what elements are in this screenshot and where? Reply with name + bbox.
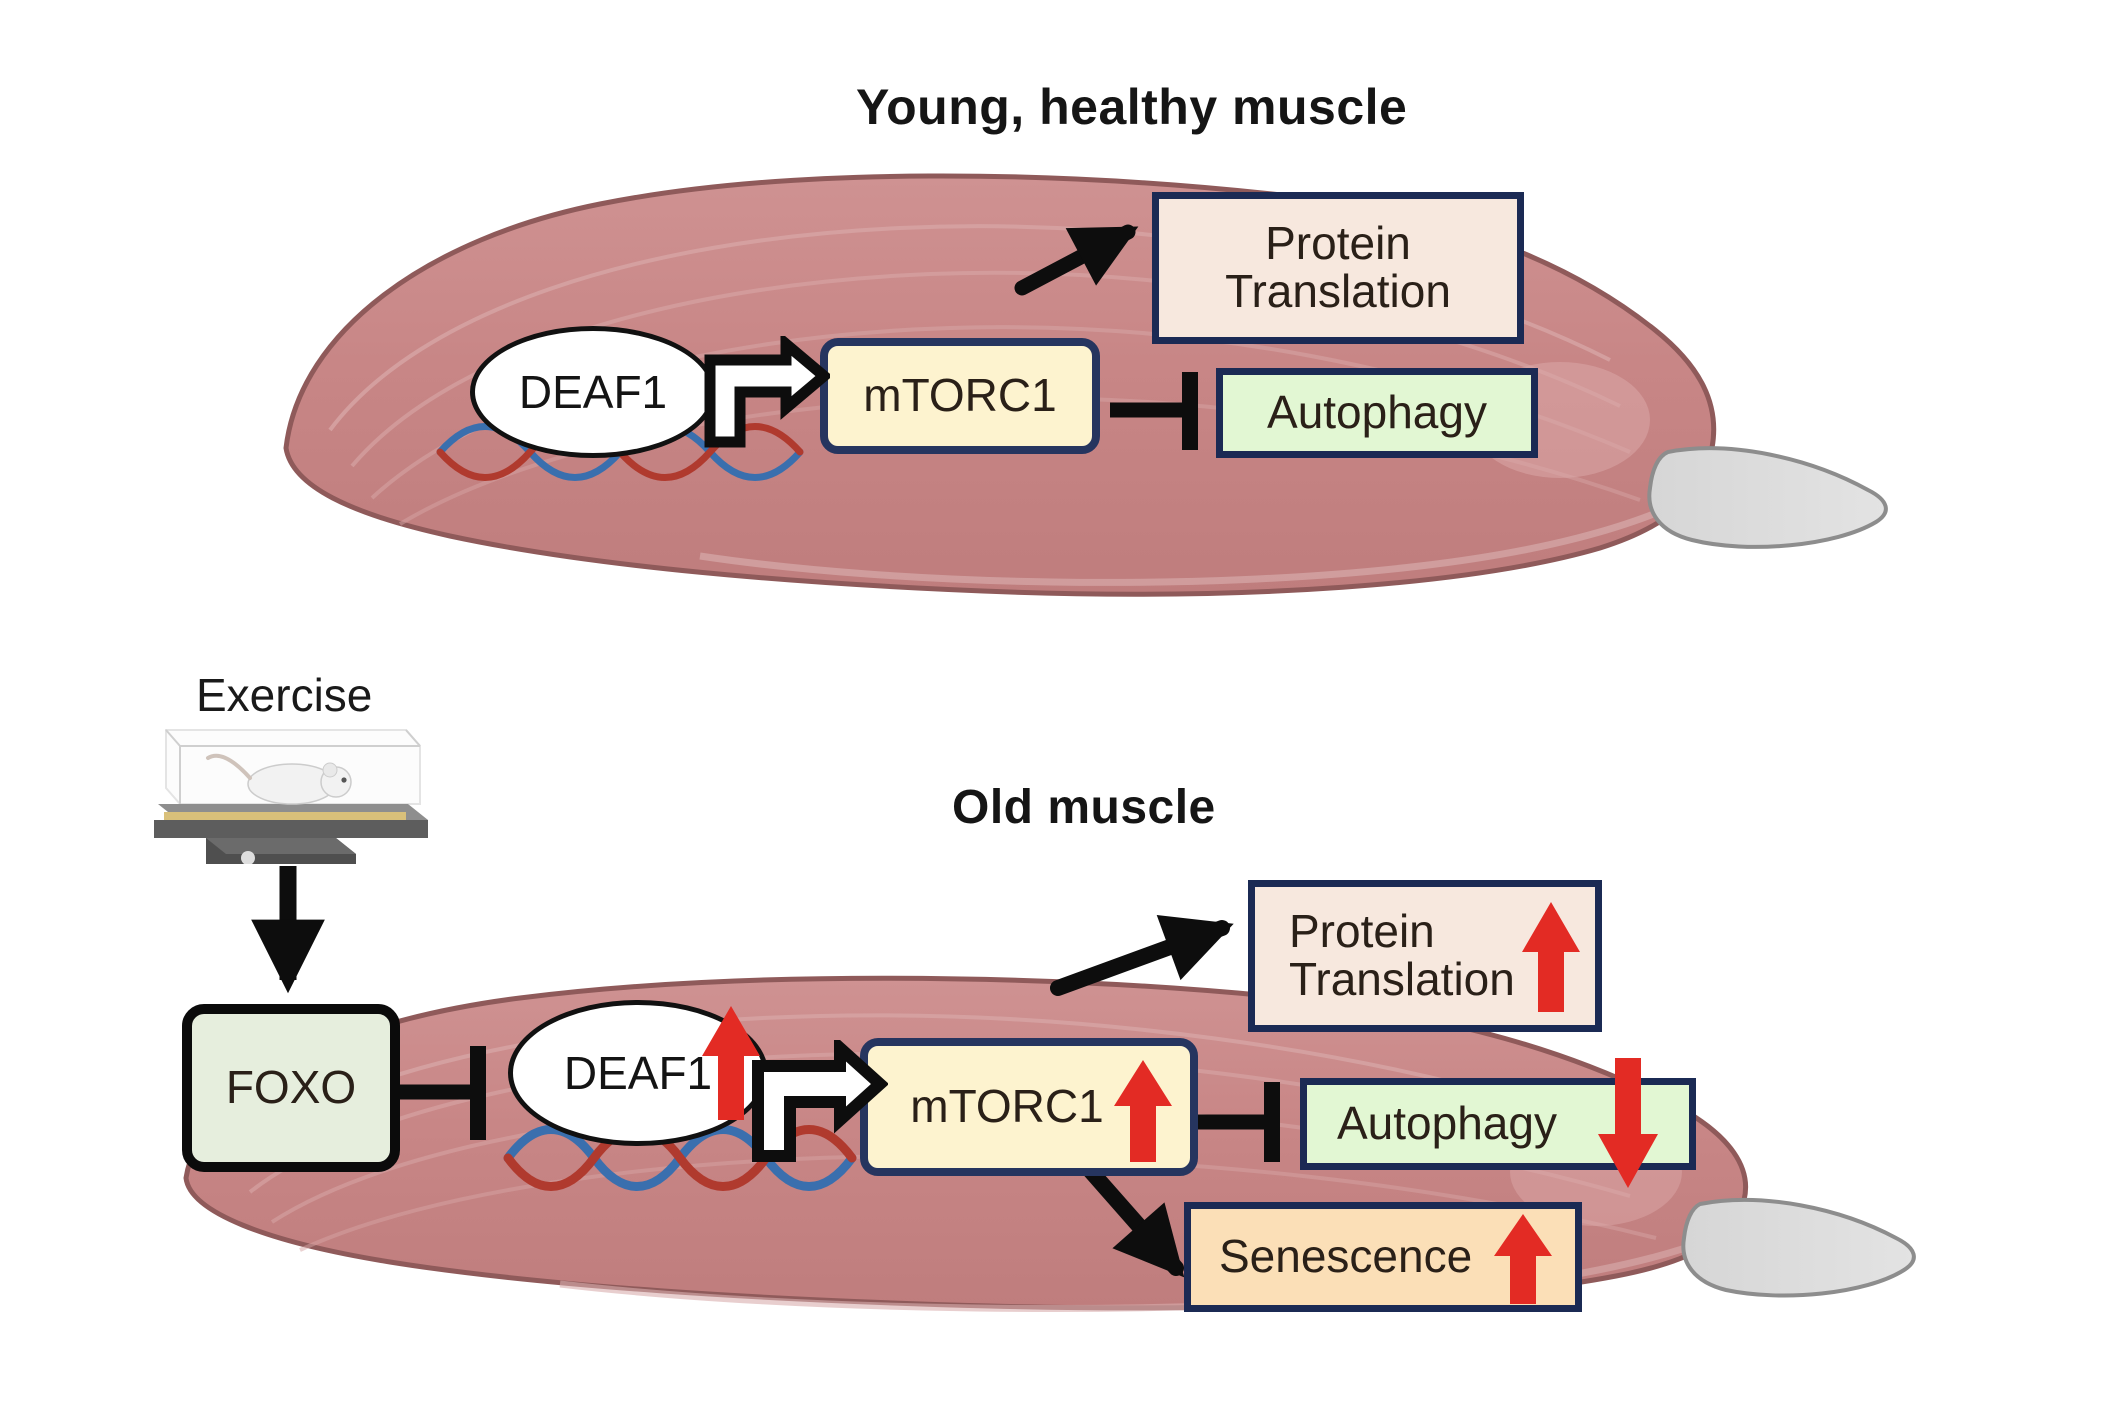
node-senescence-old-label: Senescence (1219, 1233, 1472, 1281)
node-protein-translation-old-label-line2: Translation (1289, 956, 1515, 1004)
node-mtorc1-young-label: mTORC1 (863, 372, 1056, 420)
muscle-tendon-old (1683, 1200, 1914, 1296)
transcription-arrow-icon-young (700, 336, 830, 454)
red-up-arrow-icon-protein-old (1520, 898, 1582, 1016)
red-up-arrow-icon-mtorc1-old (1112, 1056, 1174, 1166)
figure-canvas: Young, healthy muscle Old muscle Exercis… (0, 0, 2110, 1416)
red-up-arrow-icon-deaf1-old (700, 1002, 762, 1124)
node-autophagy-young[interactable]: Autophagy (1216, 368, 1538, 458)
node-mtorc1-old-label: mTORC1 (910, 1083, 1103, 1131)
red-down-arrow-icon-autophagy-old (1596, 1052, 1660, 1192)
node-deaf1-old-label: DEAF1 (564, 1046, 712, 1100)
node-deaf1-young[interactable]: DEAF1 (470, 326, 716, 458)
node-protein-translation-young-label-line1: Protein (1265, 220, 1411, 268)
node-foxo-old-label: FOXO (226, 1064, 356, 1112)
node-protein-translation-young-label-line2: Translation (1225, 268, 1451, 316)
node-mtorc1-young[interactable]: mTORC1 (820, 338, 1100, 454)
inhibition-bar-foxo-deaf1-old (400, 1046, 478, 1140)
red-up-arrow-icon-senescence-old (1492, 1210, 1554, 1308)
node-deaf1-young-label: DEAF1 (519, 365, 667, 419)
mouse-treadmill-icon (140, 712, 440, 864)
activation-arrow-mtorc1-protein-old (1058, 928, 1222, 988)
panel-title-old: Old muscle (952, 780, 1216, 835)
activation-arrow-mtorc1-senescence-old (1088, 1168, 1176, 1268)
node-protein-translation-old-label-line1: Protein (1289, 908, 1435, 956)
node-autophagy-young-label: Autophagy (1267, 389, 1487, 437)
activation-arrow-mtorc1-protein-young (1022, 232, 1128, 288)
inhibition-bar-mtorc1-autophagy-old (1196, 1082, 1272, 1162)
muscle-tendon-young (1649, 448, 1886, 547)
transcription-arrow-icon-old (746, 1040, 888, 1168)
inhibition-bar-mtorc1-autophagy-young (1110, 372, 1190, 450)
panel-title-young: Young, healthy muscle (856, 78, 1407, 136)
node-foxo-old[interactable]: FOXO (182, 1004, 400, 1172)
node-autophagy-old-label: Autophagy (1337, 1100, 1557, 1148)
node-protein-translation-young[interactable]: Protein Translation (1152, 192, 1524, 344)
